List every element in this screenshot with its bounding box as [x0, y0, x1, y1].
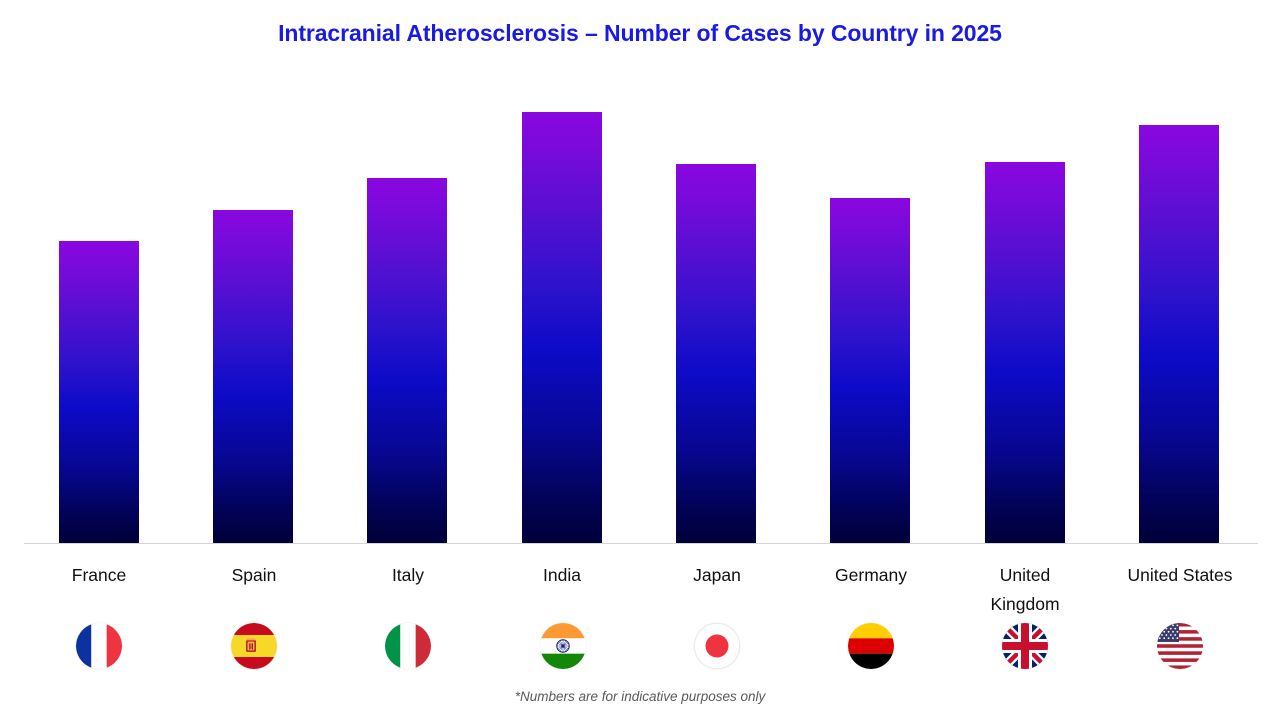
x-axis-line [24, 543, 1258, 544]
flag-italy-icon [385, 623, 431, 669]
x-label-united-states: United States [1103, 561, 1257, 590]
x-label-germany-line1: Germany [794, 561, 948, 590]
bar-spain[interactable] [213, 210, 293, 543]
flag-spain-icon [231, 623, 277, 669]
x-label-france: France [22, 561, 176, 590]
x-label-india: India [485, 561, 639, 590]
x-label-spain: Spain [177, 561, 331, 590]
bar-chart: Intracranial Atherosclerosis – Number of… [0, 0, 1280, 720]
bar-india[interactable] [522, 112, 602, 543]
x-label-japan-line1: Japan [640, 561, 794, 590]
x-label-italy-line1: Italy [331, 561, 485, 590]
bar-germany[interactable] [830, 198, 910, 543]
flag-germany-icon [848, 623, 894, 669]
x-label-germany: Germany [794, 561, 948, 590]
bar-italy[interactable] [367, 178, 447, 543]
x-label-japan: Japan [640, 561, 794, 590]
x-label-india-line1: India [485, 561, 639, 590]
bar-united-kingdom[interactable] [985, 162, 1065, 543]
flag-united-kingdom-icon [1002, 623, 1048, 669]
flag-india-icon [540, 623, 586, 669]
chart-footnote: *Numbers are for indicative purposes onl… [0, 689, 1280, 704]
x-label-united-kingdom-line2: Kingdom [948, 590, 1102, 619]
x-label-united-kingdom: United Kingdom [948, 561, 1102, 619]
bar-united-states[interactable] [1139, 125, 1219, 543]
flag-france-icon [76, 623, 122, 669]
flag-united-states-icon [1157, 623, 1203, 669]
x-label-spain-line1: Spain [177, 561, 331, 590]
bar-japan[interactable] [676, 164, 756, 543]
x-label-united-states-line1: United States [1103, 561, 1257, 590]
x-label-italy: Italy [331, 561, 485, 590]
x-label-united-kingdom-line1: United [948, 561, 1102, 590]
flag-japan-icon [694, 623, 740, 669]
x-label-france-line1: France [22, 561, 176, 590]
plot-area [0, 0, 1280, 545]
bar-france[interactable] [59, 241, 139, 543]
